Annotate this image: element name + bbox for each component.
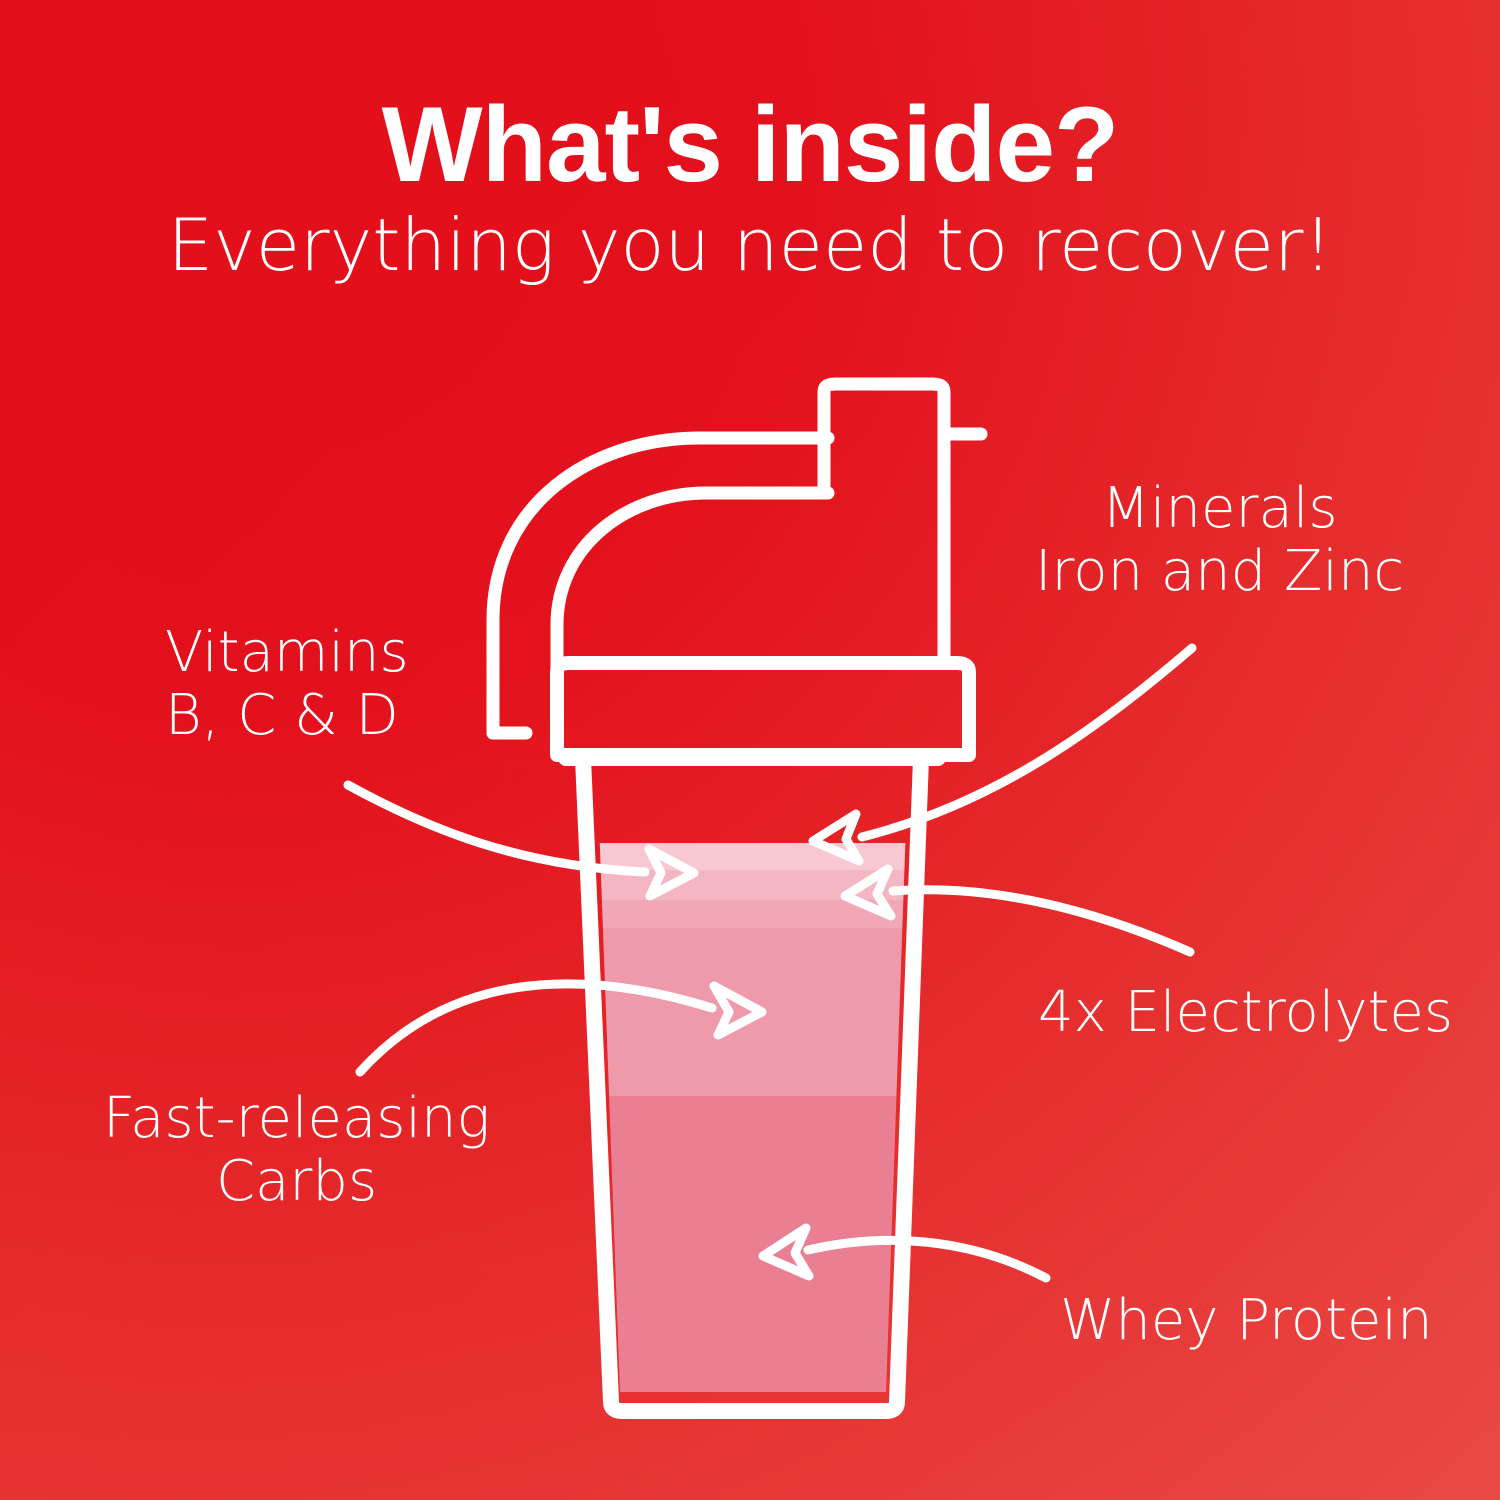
callout-minerals-line-1: Minerals <box>1035 478 1404 541</box>
callout-electrolytes-line-1: 4x Electrolytes <box>1038 982 1453 1045</box>
callout-vitamins-line-2: B, C & D <box>165 685 409 748</box>
liquid-band-3 <box>560 900 960 928</box>
callout-label-electrolytes: 4x Electrolytes <box>1038 982 1453 1045</box>
callout-carbs-line-1: Fast-releasing <box>103 1088 490 1151</box>
callout-label-minerals: Minerals Iron and Zinc <box>1035 478 1404 603</box>
callout-carbs-line-2: Carbs <box>103 1151 490 1214</box>
callout-minerals-line-2: Iron and Zinc <box>1035 541 1404 604</box>
callout-label-vitamins: Vitamins B, C & D <box>165 622 409 747</box>
poster: What's inside? Everything you need to re… <box>0 0 1500 1500</box>
callout-vitamins-line-1: Vitamins <box>165 622 409 685</box>
callout-label-carbs: Fast-releasing Carbs <box>103 1088 490 1213</box>
callout-label-whey: Whey Protein <box>1060 1290 1433 1353</box>
shaker-bottle-illustration <box>0 0 1500 1500</box>
callout-whey-line-1: Whey Protein <box>1060 1290 1433 1353</box>
